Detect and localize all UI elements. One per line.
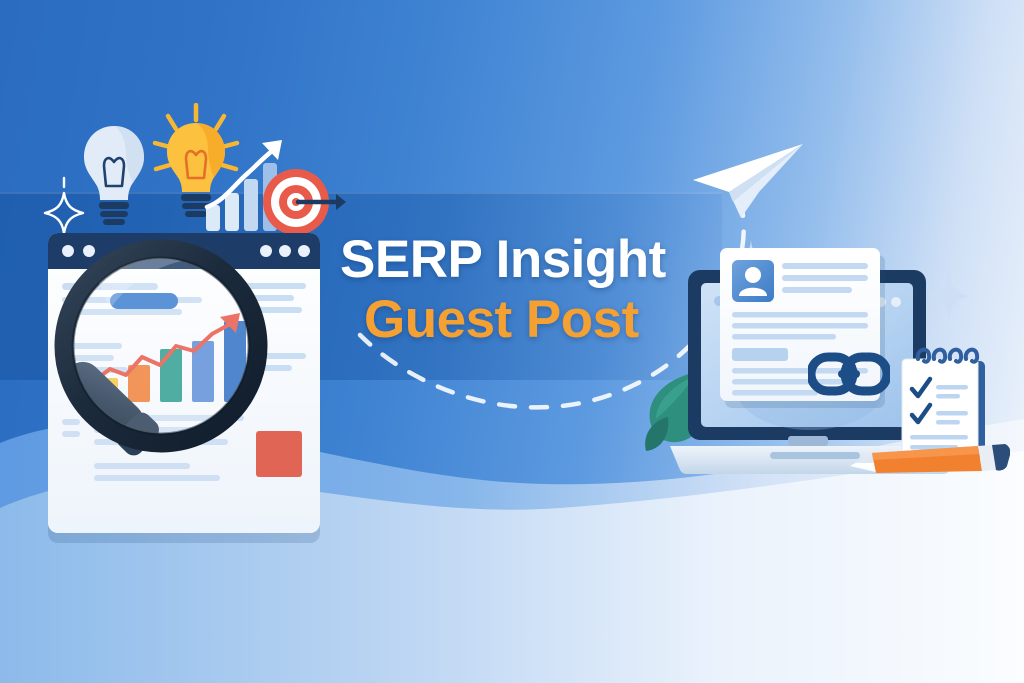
lightbulb-dim-icon bbox=[78, 122, 150, 230]
left-illustration-cluster bbox=[0, 95, 350, 495]
magnifying-glass-icon[interactable] bbox=[4, 223, 304, 553]
page-title-line1: SERP Insight bbox=[340, 234, 720, 286]
backlink-chain-icon bbox=[808, 348, 890, 400]
hero-title-block: SERP Insight Guest Post bbox=[340, 234, 720, 346]
page-title-line2: Guest Post bbox=[364, 293, 720, 346]
hero-banner: SERP Insight Guest Post bbox=[0, 0, 1024, 683]
paper-plane-icon bbox=[685, 140, 805, 220]
pencil-icon bbox=[850, 440, 1010, 484]
